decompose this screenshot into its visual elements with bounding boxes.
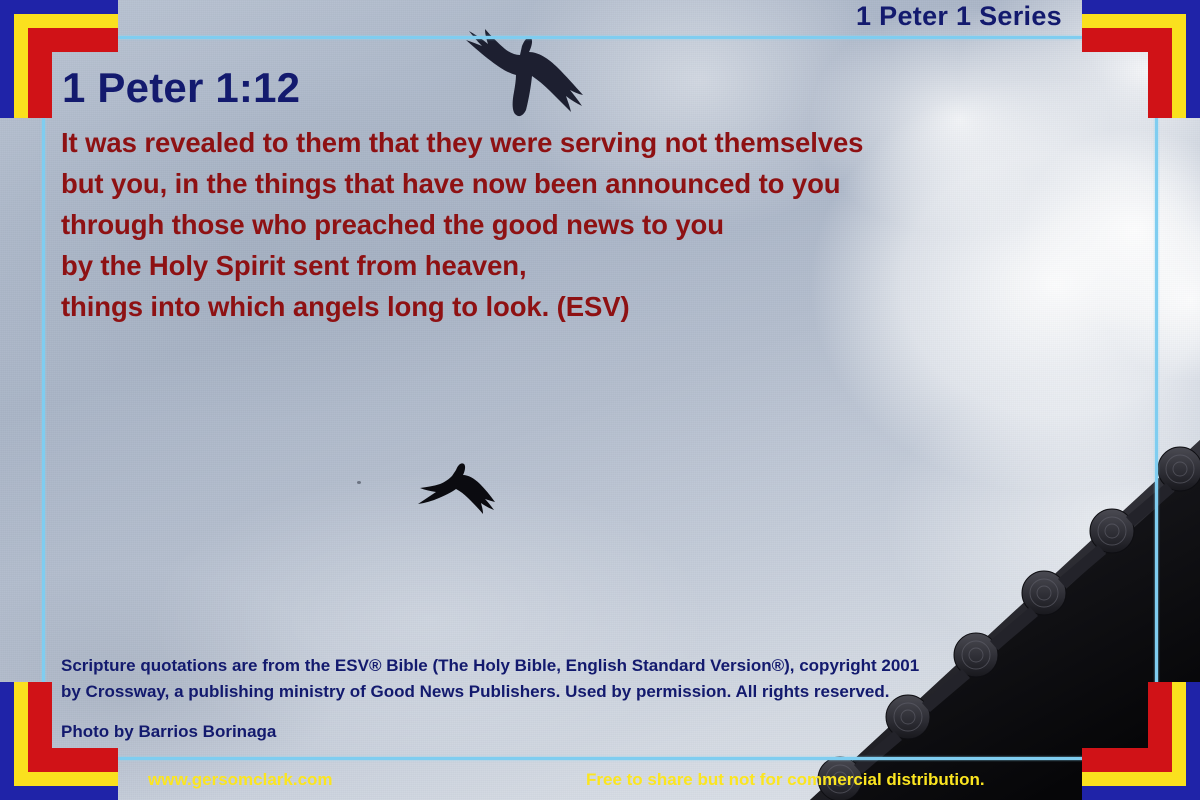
footer-website-link[interactable]: www.gersomclark.com: [148, 770, 333, 790]
scripture-slide: 1 Peter 1 Series 1 Peter 1:12 It was rev…: [0, 0, 1200, 800]
verse-reference: 1 Peter 1:12: [62, 64, 300, 112]
footer-usage-notice: Free to share but not for commercial dis…: [586, 770, 985, 790]
frame-line-left: [42, 36, 45, 760]
verse-body: It was revealed to them that they were s…: [61, 122, 1121, 327]
verse-line: It was revealed to them that they were s…: [61, 122, 1121, 163]
verse-line: things into which angels long to look. (…: [61, 286, 1121, 327]
corner-bracket-top-right: [1068, 0, 1200, 132]
copyright-line: Scripture quotations are from the ESV® B…: [61, 653, 1141, 679]
corner-bar-red-vertical: [28, 28, 52, 118]
corner-bar-red-vertical: [1148, 28, 1172, 118]
frame-line-right: [1155, 36, 1158, 760]
corner-bar-red-vertical: [1148, 682, 1172, 772]
series-title: 1 Peter 1 Series: [856, 1, 1062, 32]
photo-credit: Photo by Barrios Borinaga: [61, 722, 276, 742]
distant-bird-speck: [357, 481, 361, 484]
copyright-line: by Crossway, a publishing ministry of Go…: [61, 679, 1141, 705]
frame-line-top: [42, 36, 1158, 39]
frame-line-bottom: [42, 757, 1158, 760]
verse-line: by the Holy Spirit sent from heaven,: [61, 245, 1121, 286]
copyright-notice: Scripture quotations are from the ESV® B…: [61, 653, 1141, 705]
corner-bar-red-vertical: [28, 682, 52, 772]
verse-line: through those who preached the good news…: [61, 204, 1121, 245]
verse-line: but you, in the things that have now bee…: [61, 163, 1121, 204]
